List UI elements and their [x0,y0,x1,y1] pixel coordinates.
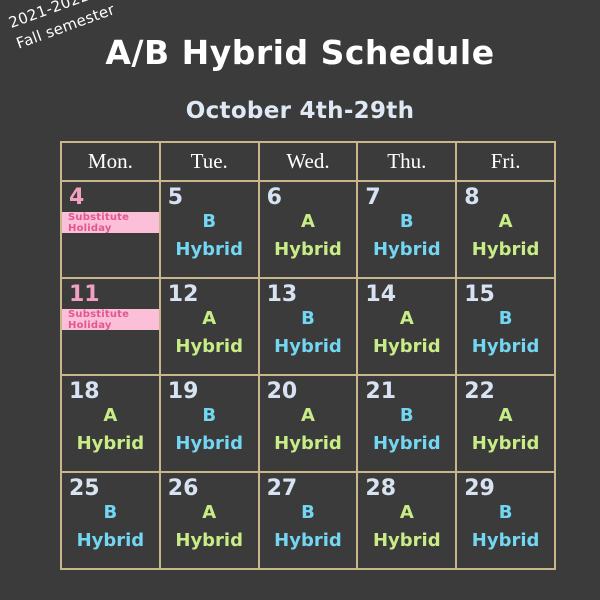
day-cell-7[interactable]: 7BHybrid [357,181,456,278]
day-cell-26[interactable]: 26AHybrid [160,472,259,569]
calendar-week-row: 11Substitute Holiday12AHybrid13BHybrid14… [61,278,555,375]
group-letter: B [161,402,258,430]
day-number: 11 [62,279,159,306]
hybrid-word: Hybrid [62,430,159,458]
day-cell-13[interactable]: 13BHybrid [259,278,358,375]
calendar-week-row: 25BHybrid26AHybrid27BHybrid28AHybrid29BH… [61,472,555,569]
group-letter: A [260,208,357,236]
day-cell-5[interactable]: 5BHybrid [160,181,259,278]
hybrid-word: Hybrid [457,527,554,555]
hybrid-label: BHybrid [358,402,455,458]
day-cell-20[interactable]: 20AHybrid [259,375,358,472]
hybrid-label: AHybrid [62,402,159,458]
hybrid-word: Hybrid [260,236,357,264]
day-number: 6 [260,182,357,209]
day-cell-22[interactable]: 22AHybrid [456,375,555,472]
day-number: 7 [358,182,455,209]
day-cell-8[interactable]: 8AHybrid [456,181,555,278]
day-number: 29 [457,473,554,500]
group-letter: B [358,208,455,236]
hybrid-word: Hybrid [358,236,455,264]
hybrid-label: BHybrid [358,208,455,264]
day-cell-12[interactable]: 12AHybrid [160,278,259,375]
hybrid-label: AHybrid [260,402,357,458]
day-cell-25[interactable]: 25BHybrid [61,472,160,569]
day-number: 26 [161,473,258,500]
day-cell-6[interactable]: 6AHybrid [259,181,358,278]
hybrid-label: AHybrid [358,305,455,361]
column-header-mon: Mon. [61,142,160,181]
group-letter: B [358,402,455,430]
hybrid-label: BHybrid [62,499,159,555]
hybrid-word: Hybrid [358,430,455,458]
day-number: 18 [62,376,159,403]
hybrid-label: BHybrid [260,305,357,361]
group-letter: B [260,305,357,333]
hybrid-word: Hybrid [457,333,554,361]
day-number: 21 [358,376,455,403]
page-title: A/B Hybrid Schedule [0,33,600,72]
day-cell-19[interactable]: 19BHybrid [160,375,259,472]
group-letter: A [161,499,258,527]
day-cell-4[interactable]: 4Substitute Holiday [61,181,160,278]
hybrid-word: Hybrid [260,527,357,555]
hybrid-word: Hybrid [161,333,258,361]
hybrid-word: Hybrid [457,430,554,458]
group-letter: B [260,499,357,527]
group-letter: B [457,499,554,527]
calendar-week-row: 18AHybrid19BHybrid20AHybrid21BHybrid22AH… [61,375,555,472]
group-letter: A [161,305,258,333]
hybrid-label: AHybrid [161,499,258,555]
holiday-banner: Substitute Holiday [62,212,159,233]
group-letter: A [358,305,455,333]
column-header-wed: Wed. [259,142,358,181]
hybrid-word: Hybrid [161,527,258,555]
day-number: 14 [358,279,455,306]
hybrid-label: BHybrid [457,499,554,555]
holiday-banner: Substitute Holiday [62,309,159,330]
hybrid-word: Hybrid [260,430,357,458]
hybrid-word: Hybrid [161,236,258,264]
hybrid-label: BHybrid [457,305,554,361]
hybrid-label: AHybrid [358,499,455,555]
day-number: 20 [260,376,357,403]
day-cell-14[interactable]: 14AHybrid [357,278,456,375]
day-number: 8 [457,182,554,209]
calendar-header-row: Mon.Tue.Wed.Thu.Fri. [61,142,555,181]
group-letter: B [161,208,258,236]
day-cell-27[interactable]: 27BHybrid [259,472,358,569]
column-header-fri: Fri. [456,142,555,181]
hybrid-label: BHybrid [161,208,258,264]
column-header-thu: Thu. [357,142,456,181]
hybrid-label: BHybrid [161,402,258,458]
hybrid-word: Hybrid [62,527,159,555]
day-number: 13 [260,279,357,306]
hybrid-word: Hybrid [161,430,258,458]
hybrid-label: AHybrid [457,208,554,264]
group-letter: A [358,499,455,527]
day-number: 12 [161,279,258,306]
day-cell-11[interactable]: 11Substitute Holiday [61,278,160,375]
calendar-table: Mon.Tue.Wed.Thu.Fri. 4Substitute Holiday… [60,141,556,570]
day-number: 15 [457,279,554,306]
hybrid-word: Hybrid [358,333,455,361]
day-cell-28[interactable]: 28AHybrid [357,472,456,569]
group-letter: A [457,208,554,236]
day-cell-29[interactable]: 29BHybrid [456,472,555,569]
group-letter: B [457,305,554,333]
day-number: 28 [358,473,455,500]
calendar-week-row: 4Substitute Holiday5BHybrid6AHybrid7BHyb… [61,181,555,278]
day-cell-18[interactable]: 18AHybrid [61,375,160,472]
hybrid-label: AHybrid [457,402,554,458]
hybrid-word: Hybrid [260,333,357,361]
day-cell-15[interactable]: 15BHybrid [456,278,555,375]
group-letter: B [62,499,159,527]
calendar-body: 4Substitute Holiday5BHybrid6AHybrid7BHyb… [61,181,555,569]
day-number: 4 [62,182,159,209]
group-letter: A [457,402,554,430]
group-letter: A [260,402,357,430]
hybrid-word: Hybrid [358,527,455,555]
day-number: 5 [161,182,258,209]
hybrid-word: Hybrid [457,236,554,264]
day-number: 22 [457,376,554,403]
hybrid-label: AHybrid [260,208,357,264]
page-subtitle: October 4th-29th [0,98,600,124]
group-letter: A [62,402,159,430]
column-header-tue: Tue. [160,142,259,181]
day-number: 27 [260,473,357,500]
hybrid-label: AHybrid [161,305,258,361]
day-number: 19 [161,376,258,403]
hybrid-label: BHybrid [260,499,357,555]
day-cell-21[interactable]: 21BHybrid [357,375,456,472]
day-number: 25 [62,473,159,500]
